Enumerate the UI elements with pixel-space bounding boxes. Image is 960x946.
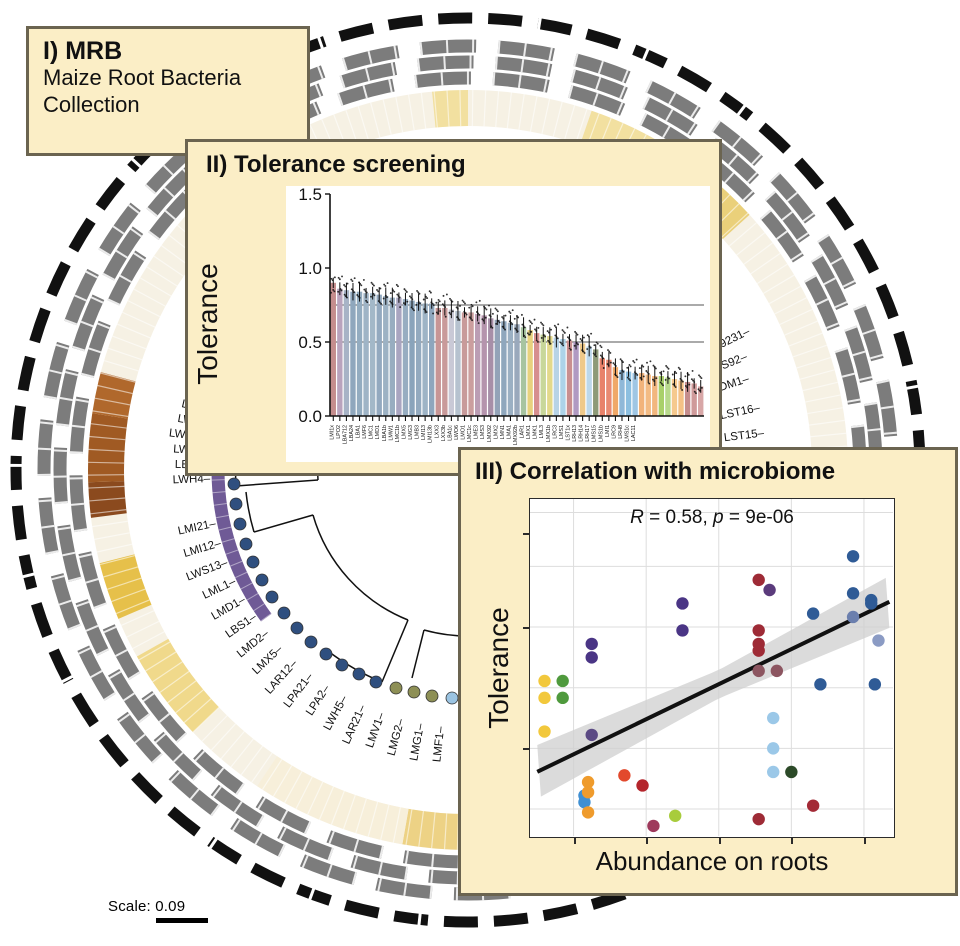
x-tick-label: LAR1 bbox=[520, 425, 526, 439]
data-point bbox=[416, 304, 418, 306]
data-point bbox=[648, 383, 650, 385]
bar bbox=[586, 346, 591, 416]
panel-3-scatter-plot bbox=[530, 499, 893, 836]
x-tick-label: LRH8 bbox=[618, 425, 624, 439]
data-point bbox=[627, 377, 629, 379]
data-point bbox=[521, 324, 523, 326]
data-point bbox=[495, 307, 497, 309]
data-point bbox=[560, 342, 562, 344]
data-point bbox=[416, 290, 418, 292]
data-point bbox=[356, 294, 358, 296]
tip-label: LML1– bbox=[201, 575, 238, 601]
data-point bbox=[470, 304, 472, 306]
x-tick-label: LMS15 bbox=[592, 425, 598, 442]
scatter-point bbox=[538, 675, 550, 687]
data-point bbox=[354, 277, 356, 279]
data-point bbox=[621, 369, 623, 371]
data-point bbox=[660, 381, 662, 383]
tip-label: LST16– bbox=[719, 402, 761, 422]
data-point bbox=[501, 316, 503, 318]
x-tick-label: LMK1 bbox=[533, 425, 539, 439]
bar bbox=[482, 315, 487, 416]
data-point bbox=[674, 371, 676, 373]
data-point bbox=[620, 358, 622, 360]
bar bbox=[442, 308, 447, 416]
data-point bbox=[649, 360, 651, 362]
scatter-point bbox=[752, 665, 764, 677]
bar bbox=[344, 290, 349, 416]
data-point bbox=[370, 296, 372, 298]
data-point bbox=[639, 377, 641, 379]
data-point bbox=[456, 306, 458, 308]
data-point bbox=[372, 293, 374, 295]
data-point bbox=[363, 289, 365, 291]
scatter-point bbox=[586, 651, 598, 663]
scatter-point bbox=[785, 766, 797, 778]
data-point bbox=[497, 320, 499, 322]
bar bbox=[600, 358, 605, 416]
data-point bbox=[463, 311, 465, 313]
scatter-point bbox=[771, 665, 783, 677]
data-point bbox=[607, 363, 609, 365]
data-point bbox=[445, 316, 447, 318]
x-tick-label: LMI1x bbox=[329, 425, 335, 440]
data-point bbox=[452, 310, 454, 312]
data-point bbox=[429, 290, 431, 292]
data-point bbox=[485, 317, 487, 319]
data-point bbox=[390, 292, 392, 294]
bar bbox=[554, 338, 559, 416]
data-point bbox=[534, 328, 536, 330]
scatter-point bbox=[556, 675, 568, 687]
data-point bbox=[383, 298, 385, 300]
scatter-point bbox=[618, 769, 630, 781]
bar bbox=[449, 309, 454, 416]
data-point bbox=[379, 288, 381, 290]
x-tick-label: LMW1 bbox=[388, 425, 394, 441]
data-point bbox=[586, 348, 588, 350]
x-tick-label: LMS3 bbox=[480, 425, 486, 439]
data-point bbox=[481, 318, 483, 320]
data-point bbox=[409, 295, 411, 297]
y-tick-label: 1.0 bbox=[298, 259, 322, 278]
data-point bbox=[492, 313, 494, 315]
scatter-point bbox=[869, 678, 881, 690]
bar bbox=[396, 298, 401, 416]
data-point bbox=[613, 362, 615, 364]
data-point bbox=[698, 388, 700, 390]
data-point bbox=[537, 327, 539, 329]
data-point bbox=[514, 328, 516, 330]
data-point bbox=[338, 277, 340, 279]
data-point bbox=[396, 284, 398, 286]
data-point bbox=[550, 329, 552, 331]
scatter-point bbox=[847, 587, 859, 599]
data-point bbox=[534, 319, 536, 321]
y-tick-label: 0.0 bbox=[298, 407, 322, 426]
tip-label: LMI12– bbox=[182, 537, 223, 560]
scale-bar-rule bbox=[156, 918, 208, 923]
data-point bbox=[443, 295, 445, 297]
data-point bbox=[527, 332, 529, 334]
bar bbox=[547, 336, 552, 416]
data-point bbox=[629, 364, 631, 366]
panel-1-title: I) MRB bbox=[43, 37, 295, 65]
scatter-point bbox=[752, 813, 764, 825]
bar bbox=[363, 293, 368, 416]
x-axis-tick bbox=[646, 837, 648, 844]
x-tick-label: LMB3 bbox=[415, 425, 421, 439]
tip-label: LMV1– bbox=[364, 711, 388, 750]
data-point bbox=[619, 372, 621, 374]
data-point bbox=[679, 378, 681, 380]
x-axis-tick bbox=[791, 837, 793, 844]
scatter-point bbox=[752, 624, 764, 636]
bar bbox=[350, 292, 355, 416]
bar bbox=[337, 289, 342, 416]
data-point bbox=[655, 377, 657, 379]
bar bbox=[455, 311, 460, 416]
scatter-point bbox=[767, 712, 779, 724]
bar bbox=[377, 295, 382, 416]
data-point bbox=[665, 379, 667, 381]
bar bbox=[390, 298, 395, 416]
bar bbox=[541, 335, 546, 416]
scatter-point bbox=[865, 597, 877, 609]
x-tick-label: LBA1c bbox=[447, 425, 453, 441]
scatter-point bbox=[847, 611, 859, 623]
data-point bbox=[672, 383, 674, 385]
data-point bbox=[576, 342, 578, 344]
data-point bbox=[529, 320, 531, 322]
data-point bbox=[347, 283, 349, 285]
panel-2-bar-chart: 0.00.51.01.5LMI1xLPO2LBA712LBA24LBA1LMF6… bbox=[286, 186, 710, 462]
bar bbox=[429, 304, 434, 416]
bar bbox=[475, 314, 480, 416]
bar bbox=[560, 339, 565, 416]
data-point bbox=[418, 301, 420, 303]
data-point bbox=[423, 308, 425, 310]
scatter-point bbox=[582, 786, 594, 798]
data-point bbox=[653, 365, 655, 367]
scatter-point bbox=[872, 634, 884, 646]
data-point bbox=[596, 341, 598, 343]
data-point bbox=[667, 376, 669, 378]
scatter-point bbox=[847, 550, 859, 562]
bar bbox=[632, 373, 637, 416]
data-point bbox=[547, 330, 549, 332]
data-point bbox=[339, 288, 341, 290]
data-point bbox=[687, 372, 689, 374]
x-tick-label: LMX92 bbox=[487, 425, 493, 442]
panel-2-plot-area: 0.00.51.01.5LMI1xLPO2LBA712LBA24LBA1LMF6… bbox=[286, 186, 710, 462]
data-point bbox=[476, 311, 478, 313]
bar bbox=[422, 304, 427, 416]
x-tick-label: LAC11 bbox=[631, 425, 637, 441]
panel-3-statistic-annotation: R = 0.58, p = 9e-06 bbox=[530, 507, 894, 529]
data-point bbox=[399, 306, 401, 308]
x-tick-label: LRH14 bbox=[579, 425, 585, 442]
scatter-point bbox=[636, 779, 648, 791]
scatter-point bbox=[676, 597, 688, 609]
x-tick-label: LMX92b bbox=[513, 425, 519, 445]
data-point bbox=[569, 347, 571, 349]
data-point bbox=[607, 349, 609, 351]
bar bbox=[580, 343, 585, 416]
scale-bar: Scale: 0.09 bbox=[108, 898, 208, 923]
data-point bbox=[436, 312, 438, 314]
data-point bbox=[488, 305, 490, 307]
panel-1-subtitle-line-2: Collection bbox=[43, 92, 295, 119]
scatter-point bbox=[767, 742, 779, 754]
data-point bbox=[593, 344, 595, 346]
data-point bbox=[587, 334, 589, 336]
panel-1-subtitle-line-1: Maize Root Bacteria bbox=[43, 65, 295, 92]
data-point bbox=[632, 360, 634, 362]
data-point bbox=[541, 337, 543, 339]
x-axis-tick bbox=[864, 837, 866, 844]
bar bbox=[521, 327, 526, 416]
data-point bbox=[358, 281, 360, 283]
bar bbox=[468, 312, 473, 416]
data-point bbox=[646, 362, 648, 364]
data-point bbox=[562, 329, 564, 331]
data-point bbox=[351, 288, 353, 290]
data-point bbox=[652, 379, 654, 381]
tip-label: LMG1– bbox=[408, 722, 427, 762]
tip-label: LMI21– bbox=[177, 518, 218, 538]
data-point bbox=[435, 302, 437, 304]
bar bbox=[495, 320, 500, 416]
data-point bbox=[490, 325, 492, 327]
x-tick-label: LRC3 bbox=[552, 425, 558, 439]
y-tick-label: 0.5 bbox=[298, 333, 322, 352]
bar bbox=[488, 318, 493, 416]
data-point bbox=[337, 291, 339, 293]
bar bbox=[508, 323, 513, 416]
x-tick-label: LMN1 bbox=[500, 425, 506, 439]
x-tick-label: LMI13 bbox=[421, 425, 427, 440]
data-point bbox=[505, 315, 507, 317]
x-tick-label: LME3 bbox=[474, 425, 480, 439]
bar bbox=[527, 330, 532, 416]
x-tick-label: LPO2 bbox=[336, 425, 342, 439]
data-point bbox=[639, 367, 641, 369]
data-point bbox=[350, 279, 352, 281]
data-point bbox=[588, 345, 590, 347]
x-tick-label: LMC1 bbox=[369, 425, 375, 439]
data-point bbox=[502, 326, 504, 328]
data-point bbox=[442, 303, 444, 305]
scatter-point bbox=[814, 678, 826, 690]
data-point bbox=[439, 310, 441, 312]
panel-2-y-axis-label: Tolerance bbox=[186, 186, 230, 462]
bar bbox=[409, 301, 414, 416]
data-point bbox=[685, 385, 687, 387]
data-point bbox=[626, 367, 628, 369]
data-point bbox=[614, 373, 616, 375]
data-point bbox=[383, 284, 385, 286]
data-point bbox=[566, 327, 568, 329]
data-point bbox=[468, 307, 470, 309]
x-tick-label: LMX1b bbox=[546, 425, 552, 442]
data-point bbox=[411, 306, 413, 308]
data-point bbox=[332, 289, 334, 291]
scatter-point bbox=[647, 820, 659, 832]
x-tick-label: LMC1b bbox=[395, 425, 401, 442]
bar bbox=[331, 283, 336, 416]
data-point bbox=[462, 300, 464, 302]
panel-correlation-microbiome: III) Correlation with microbiome Toleran… bbox=[458, 447, 958, 896]
data-point bbox=[643, 375, 645, 377]
data-point bbox=[456, 316, 458, 318]
data-point bbox=[684, 375, 686, 377]
data-point bbox=[389, 300, 391, 302]
scale-bar-label: Scale: 0.09 bbox=[108, 898, 208, 915]
x-tick-label: LRH17 bbox=[585, 425, 591, 442]
y-axis-tick bbox=[523, 533, 530, 535]
data-point bbox=[583, 337, 585, 339]
data-point bbox=[363, 279, 365, 281]
scatter-point bbox=[763, 584, 775, 596]
data-point bbox=[681, 389, 683, 391]
x-axis-tick bbox=[719, 837, 721, 844]
x-tick-label: LMI13b bbox=[428, 425, 434, 443]
data-point bbox=[376, 289, 378, 291]
data-point bbox=[599, 345, 601, 347]
x-tick-label: LRH13 bbox=[572, 425, 578, 442]
data-point bbox=[425, 296, 427, 298]
data-point bbox=[449, 312, 451, 314]
x-tick-label: LMG3 bbox=[408, 425, 414, 440]
x-tick-label: LMD1 bbox=[375, 425, 381, 439]
bar bbox=[606, 360, 611, 416]
bar bbox=[514, 324, 519, 416]
scatter-point bbox=[669, 810, 681, 822]
data-point bbox=[530, 331, 532, 333]
data-point bbox=[593, 352, 595, 354]
bar bbox=[370, 293, 375, 416]
scatter-point bbox=[807, 607, 819, 619]
data-point bbox=[449, 298, 451, 300]
data-point bbox=[580, 338, 582, 340]
x-tick-label: LBA1b bbox=[382, 425, 388, 441]
data-point bbox=[430, 301, 432, 303]
x-tick-label: LMA1 bbox=[506, 425, 512, 439]
data-point bbox=[590, 333, 592, 335]
bar bbox=[416, 302, 421, 416]
data-point bbox=[334, 276, 336, 278]
x-tick-label: LBA712 bbox=[342, 425, 348, 444]
data-point bbox=[600, 354, 602, 356]
scatter-point bbox=[582, 806, 594, 818]
data-point bbox=[341, 275, 343, 277]
data-point bbox=[423, 299, 425, 301]
data-point bbox=[385, 295, 387, 297]
data-point bbox=[694, 391, 696, 393]
bar bbox=[567, 341, 572, 416]
x-tick-label: LMX1 bbox=[526, 425, 532, 439]
data-point bbox=[508, 311, 510, 313]
data-point bbox=[514, 318, 516, 320]
data-point bbox=[396, 294, 398, 296]
panel-tolerance-screening: II) Tolerance screening Tolerance 0.00.5… bbox=[185, 139, 722, 476]
x-tick-label: LMI1 bbox=[605, 425, 611, 437]
data-point bbox=[404, 288, 406, 290]
data-point bbox=[512, 309, 514, 311]
data-point bbox=[483, 306, 485, 308]
data-point bbox=[432, 313, 434, 315]
data-point bbox=[567, 336, 569, 338]
x-tick-label: LXX3 bbox=[434, 425, 440, 438]
data-point bbox=[610, 362, 612, 364]
data-point bbox=[645, 370, 647, 372]
data-point bbox=[479, 300, 481, 302]
data-point bbox=[523, 335, 525, 337]
x-tick-label: LWO6 bbox=[454, 425, 460, 440]
data-point bbox=[459, 305, 461, 307]
data-point bbox=[438, 299, 440, 301]
bar bbox=[501, 321, 506, 416]
data-point bbox=[634, 371, 636, 373]
data-point bbox=[371, 282, 373, 284]
data-point bbox=[495, 323, 497, 325]
x-tick-label: LST1x bbox=[565, 425, 571, 441]
data-point bbox=[603, 367, 605, 369]
scatter-point bbox=[807, 799, 819, 811]
panel-3-x-axis-label: Abundance on roots bbox=[529, 846, 895, 877]
bar bbox=[573, 342, 578, 416]
data-point bbox=[387, 282, 389, 284]
scatter-point bbox=[752, 574, 764, 586]
x-axis-tick bbox=[574, 837, 576, 844]
data-point bbox=[406, 301, 408, 303]
data-point bbox=[698, 374, 700, 376]
panel-mrb: I) MRB Maize Root Bacteria Collection bbox=[26, 26, 310, 156]
bar bbox=[534, 333, 539, 416]
panel-3-plot-area: R = 0.58, p = 9e-06 bbox=[529, 498, 895, 838]
scatter-point bbox=[586, 638, 598, 650]
data-point bbox=[547, 340, 549, 342]
panel-3-title: III) Correlation with microbiome bbox=[475, 458, 955, 486]
bar bbox=[462, 312, 467, 416]
data-point bbox=[378, 300, 380, 302]
scatter-point bbox=[586, 729, 598, 741]
data-point bbox=[478, 322, 480, 324]
y-tick-label: 1.5 bbox=[298, 186, 322, 204]
data-point bbox=[475, 301, 477, 303]
scatter-point bbox=[767, 766, 779, 778]
x-tick-label: LMS1c bbox=[625, 425, 631, 442]
bar bbox=[357, 292, 362, 416]
data-point bbox=[344, 294, 346, 296]
panel-2-title: II) Tolerance screening bbox=[206, 151, 719, 179]
x-tick-label: LXX3b bbox=[441, 425, 447, 441]
scatter-point bbox=[676, 624, 688, 636]
x-tick-label: LRC9 bbox=[611, 425, 617, 439]
bar bbox=[436, 308, 441, 416]
data-point bbox=[701, 387, 703, 389]
data-point bbox=[672, 374, 674, 376]
data-point bbox=[557, 323, 559, 325]
data-point bbox=[574, 345, 576, 347]
tip-label: LMF1– bbox=[431, 725, 447, 762]
data-point bbox=[509, 320, 511, 322]
panel-3-y-axis-label: Tolerance bbox=[475, 498, 523, 838]
data-point bbox=[581, 349, 583, 351]
x-tick-label: LMF6 bbox=[362, 425, 368, 439]
x-tick-label: LMS1 bbox=[559, 425, 565, 439]
